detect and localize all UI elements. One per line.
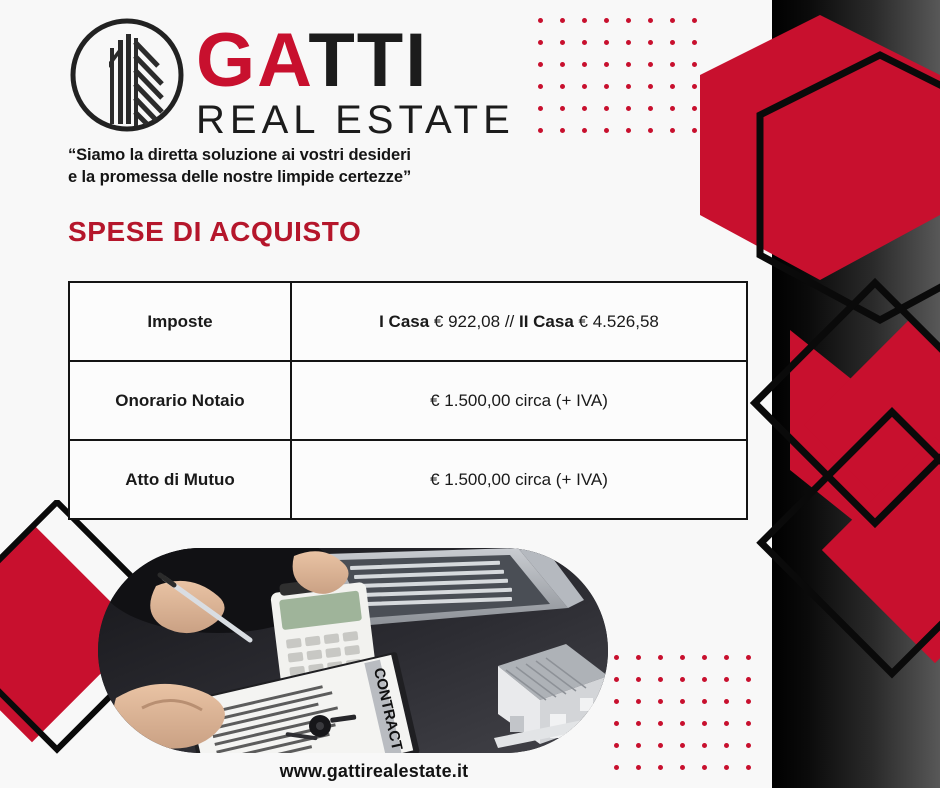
decorative-dot bbox=[658, 721, 663, 726]
decorative-dot bbox=[604, 128, 609, 133]
decorative-dot bbox=[560, 106, 565, 111]
brand-logo: GATTI REAL ESTATE bbox=[68, 12, 538, 137]
brand-name-part1: GA bbox=[196, 18, 308, 103]
decorative-dot bbox=[680, 699, 685, 704]
building-circle-emblem-icon bbox=[68, 16, 186, 134]
decorative-dot bbox=[636, 699, 641, 704]
decorative-dot bbox=[670, 128, 675, 133]
tagline: “Siamo la diretta soluzione ai vostri de… bbox=[68, 144, 538, 188]
decorative-dot bbox=[648, 62, 653, 67]
dot-grid-top bbox=[538, 18, 703, 138]
decorative-dot bbox=[680, 743, 685, 748]
page-title: SPESE DI ACQUISTO bbox=[68, 216, 361, 248]
decorative-dot bbox=[724, 743, 729, 748]
decorative-dot bbox=[538, 18, 543, 23]
decorative-dot bbox=[724, 677, 729, 682]
row-value: I Casa € 922,08 // II Casa € 4.526,58 bbox=[291, 282, 747, 361]
decorative-dot bbox=[746, 677, 751, 682]
decorative-dot bbox=[538, 62, 543, 67]
decorative-dot bbox=[692, 106, 697, 111]
decorative-dot bbox=[604, 62, 609, 67]
decorative-dot bbox=[648, 128, 653, 133]
decorative-dot bbox=[724, 699, 729, 704]
decorative-dot bbox=[658, 655, 663, 660]
decorative-dot bbox=[604, 84, 609, 89]
decorative-dot bbox=[702, 655, 707, 660]
decorative-dot bbox=[582, 40, 587, 45]
row-value: € 1.500,00 circa (+ IVA) bbox=[291, 361, 747, 440]
tagline-line-2: e la promessa delle nostre limpide certe… bbox=[68, 166, 538, 188]
brand-wordmark: GATTI REAL ESTATE bbox=[196, 26, 515, 142]
decorative-dot bbox=[538, 106, 543, 111]
decorative-dot bbox=[670, 40, 675, 45]
row-label: Onorario Notaio bbox=[69, 361, 291, 440]
decorative-dot bbox=[614, 721, 619, 726]
brand-subtitle: REAL ESTATE bbox=[196, 98, 515, 142]
decorative-dot bbox=[582, 106, 587, 111]
row-value-bold-1: I Casa bbox=[379, 312, 429, 331]
costs-table: Imposte I Casa € 922,08 // II Casa € 4.5… bbox=[68, 281, 748, 520]
decorative-dot bbox=[626, 128, 631, 133]
decorative-dot bbox=[746, 699, 751, 704]
decorative-dot bbox=[648, 40, 653, 45]
decorative-dot bbox=[538, 40, 543, 45]
decorative-dot bbox=[746, 743, 751, 748]
decorative-dot bbox=[746, 655, 751, 660]
decorative-dot bbox=[626, 106, 631, 111]
decorative-dot bbox=[626, 40, 631, 45]
right-decorative-band bbox=[772, 0, 940, 788]
row-value-separator: // bbox=[505, 312, 514, 331]
decorative-dot bbox=[560, 62, 565, 67]
decorative-dot bbox=[680, 721, 685, 726]
table-row: Imposte I Casa € 922,08 // II Casa € 4.5… bbox=[69, 282, 747, 361]
decorative-dot bbox=[626, 62, 631, 67]
brand-name-part2: TTI bbox=[308, 18, 428, 103]
decorative-dot bbox=[658, 743, 663, 748]
decorative-dot bbox=[702, 721, 707, 726]
decorative-dot bbox=[636, 655, 641, 660]
decorative-dot bbox=[582, 18, 587, 23]
decorative-dot bbox=[614, 677, 619, 682]
tagline-line-1: “Siamo la diretta soluzione ai vostri de… bbox=[68, 144, 538, 166]
decorative-dot bbox=[560, 18, 565, 23]
decorative-dot bbox=[538, 84, 543, 89]
decorative-dot bbox=[582, 128, 587, 133]
decorative-dot bbox=[680, 677, 685, 682]
row-value-text-1: € 922,08 bbox=[429, 312, 505, 331]
decorative-dot bbox=[636, 677, 641, 682]
decorative-dot bbox=[538, 128, 543, 133]
row-value-text-2: € 4.526,58 bbox=[574, 312, 659, 331]
decorative-dot bbox=[604, 40, 609, 45]
decorative-dot bbox=[670, 84, 675, 89]
row-label: Imposte bbox=[69, 282, 291, 361]
row-value-bold-2: II Casa bbox=[514, 312, 574, 331]
decorative-dot bbox=[692, 84, 697, 89]
decorative-dot bbox=[692, 62, 697, 67]
decorative-dot bbox=[614, 655, 619, 660]
decorative-dot bbox=[626, 18, 631, 23]
decorative-dot bbox=[636, 721, 641, 726]
decorative-dot bbox=[658, 677, 663, 682]
decorative-dot bbox=[692, 40, 697, 45]
decorative-dot bbox=[670, 106, 675, 111]
consultation-photo: CONTRACT bbox=[98, 548, 608, 753]
decorative-dot bbox=[680, 655, 685, 660]
row-label: Atto di Mutuo bbox=[69, 440, 291, 519]
brand-name: GATTI bbox=[196, 26, 515, 96]
decorative-dot bbox=[648, 18, 653, 23]
decorative-dot bbox=[692, 128, 697, 133]
decorative-dot bbox=[702, 743, 707, 748]
decorative-dot bbox=[604, 106, 609, 111]
decorative-dot bbox=[582, 84, 587, 89]
decorative-dot bbox=[724, 721, 729, 726]
decorative-dot bbox=[670, 18, 675, 23]
decorative-dot bbox=[560, 128, 565, 133]
decorative-dot bbox=[702, 699, 707, 704]
table-row: Onorario Notaio € 1.500,00 circa (+ IVA) bbox=[69, 361, 747, 440]
row-value: € 1.500,00 circa (+ IVA) bbox=[291, 440, 747, 519]
decorative-dot bbox=[670, 62, 675, 67]
decorative-dot bbox=[604, 18, 609, 23]
decorative-dot bbox=[560, 40, 565, 45]
decorative-dot bbox=[560, 84, 565, 89]
decorative-dot bbox=[648, 84, 653, 89]
decorative-dot bbox=[658, 699, 663, 704]
decorative-dot bbox=[648, 106, 653, 111]
table-row: Atto di Mutuo € 1.500,00 circa (+ IVA) bbox=[69, 440, 747, 519]
decorative-dot bbox=[702, 677, 707, 682]
decorative-dot bbox=[614, 743, 619, 748]
decorative-dot bbox=[692, 18, 697, 23]
decorative-dot bbox=[746, 721, 751, 726]
decorative-dot bbox=[582, 62, 587, 67]
decorative-dot bbox=[724, 655, 729, 660]
decorative-dot bbox=[626, 84, 631, 89]
website-url[interactable]: www.gattirealestate.it bbox=[0, 761, 748, 782]
decorative-dot bbox=[636, 743, 641, 748]
decorative-dot bbox=[614, 699, 619, 704]
